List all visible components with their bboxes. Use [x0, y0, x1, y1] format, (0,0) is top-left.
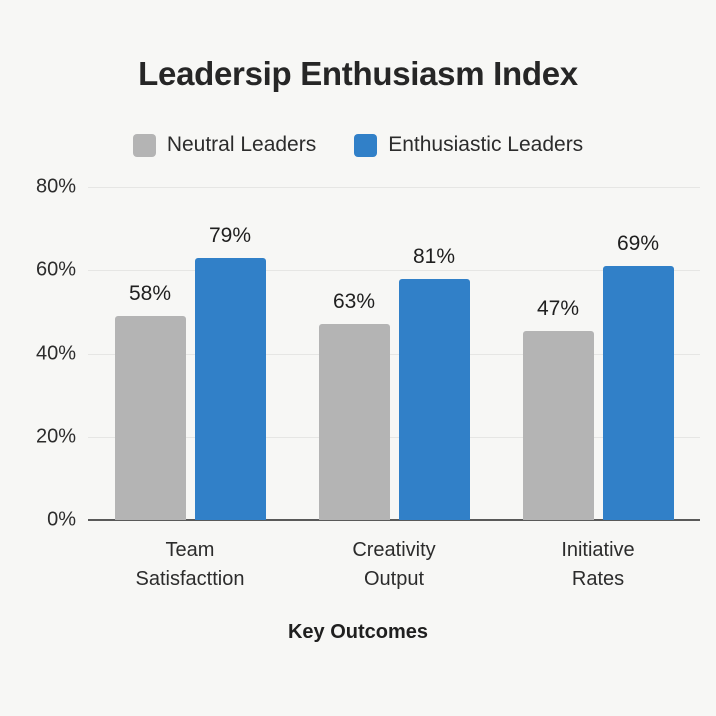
x-axis-tick-label: InitiativeRates — [498, 536, 698, 594]
bar-value-label: 58% — [105, 282, 195, 306]
bar-1-1[interactable] — [399, 279, 470, 520]
x-axis-tick-label: TeamSatisfacttion — [90, 536, 290, 594]
bar-1-2[interactable] — [603, 266, 674, 520]
bar-value-label: 79% — [185, 224, 275, 248]
y-axis-tick-label: 80% — [6, 176, 76, 199]
legend-label: Enthusiastic Leaders — [388, 133, 583, 157]
bar-value-label: 63% — [309, 290, 399, 314]
x-axis-title: Key Outcomes — [0, 621, 716, 644]
legend-swatch-icon — [133, 134, 156, 157]
y-axis-tick-label: 40% — [6, 342, 76, 365]
x-axis-tick-line: Initiative — [498, 536, 698, 565]
chart-title: Leadersip Enthusiasm Index — [0, 55, 716, 93]
legend-item-enthusiastic-leaders[interactable]: Enthusiastic Leaders — [354, 133, 583, 157]
y-axis-tick-label: 60% — [6, 259, 76, 282]
gridline — [88, 187, 700, 188]
bar-0-0[interactable] — [115, 316, 186, 520]
bar-1-0[interactable] — [195, 258, 266, 520]
bar-0-2[interactable] — [523, 331, 594, 520]
bar-value-label: 47% — [513, 297, 603, 321]
x-axis-tick-line: Satisfacttion — [90, 565, 290, 594]
x-axis-tick-line: Creativity — [294, 536, 494, 565]
x-axis-tick-line: Output — [294, 565, 494, 594]
legend-label: Neutral Leaders — [167, 133, 316, 157]
x-axis-tick-line: Rates — [498, 565, 698, 594]
y-axis-tick-label: 0% — [6, 509, 76, 532]
x-axis-tick-line: Team — [90, 536, 290, 565]
legend-swatch-icon — [354, 134, 377, 157]
chart-legend: Neutral Leaders Enthusiastic Leaders — [0, 133, 716, 157]
y-axis: 0%20%40%60%80% — [0, 0, 76, 716]
bar-value-label: 81% — [389, 245, 479, 269]
legend-item-neutral-leaders[interactable]: Neutral Leaders — [133, 133, 316, 157]
bar-value-label: 69% — [593, 232, 683, 256]
y-axis-tick-label: 20% — [6, 425, 76, 448]
bar-0-1[interactable] — [319, 324, 390, 520]
bar-chart: Leadersip Enthusiasm Index Neutral Leade… — [0, 0, 716, 716]
x-axis-tick-label: CreativityOutput — [294, 536, 494, 594]
